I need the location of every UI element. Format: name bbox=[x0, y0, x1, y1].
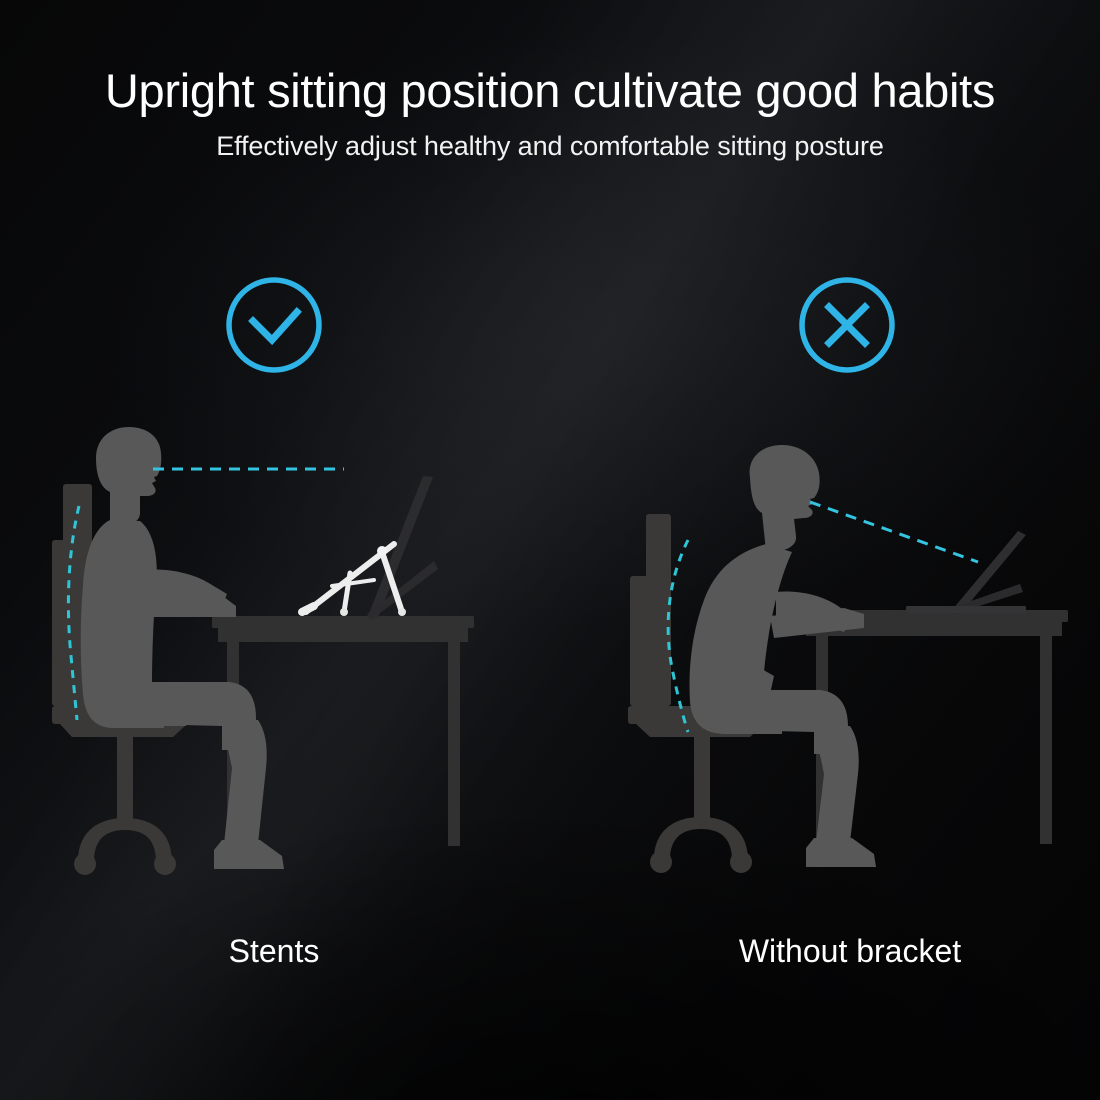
scene-incorrect-posture bbox=[620, 440, 1090, 890]
poster-canvas: Upright sitting position cultivate good … bbox=[0, 0, 1100, 1100]
check-circle-icon bbox=[222, 273, 326, 377]
scene-correct-posture bbox=[44, 420, 514, 890]
spine-indicator-incorrect bbox=[668, 540, 688, 732]
person-figure-correct bbox=[81, 427, 284, 869]
header-block: Upright sitting position cultivate good … bbox=[0, 66, 1100, 162]
person-figure-incorrect bbox=[690, 445, 876, 867]
sightline-incorrect bbox=[810, 502, 978, 562]
x-circle-icon bbox=[795, 273, 899, 377]
page-title: Upright sitting position cultivate good … bbox=[0, 66, 1100, 115]
laptop-correct bbox=[367, 476, 438, 620]
caption-correct: Stents bbox=[44, 933, 504, 970]
page-subtitle: Effectively adjust healthy and comfortab… bbox=[0, 131, 1100, 162]
caption-incorrect: Without bracket bbox=[620, 933, 1080, 970]
